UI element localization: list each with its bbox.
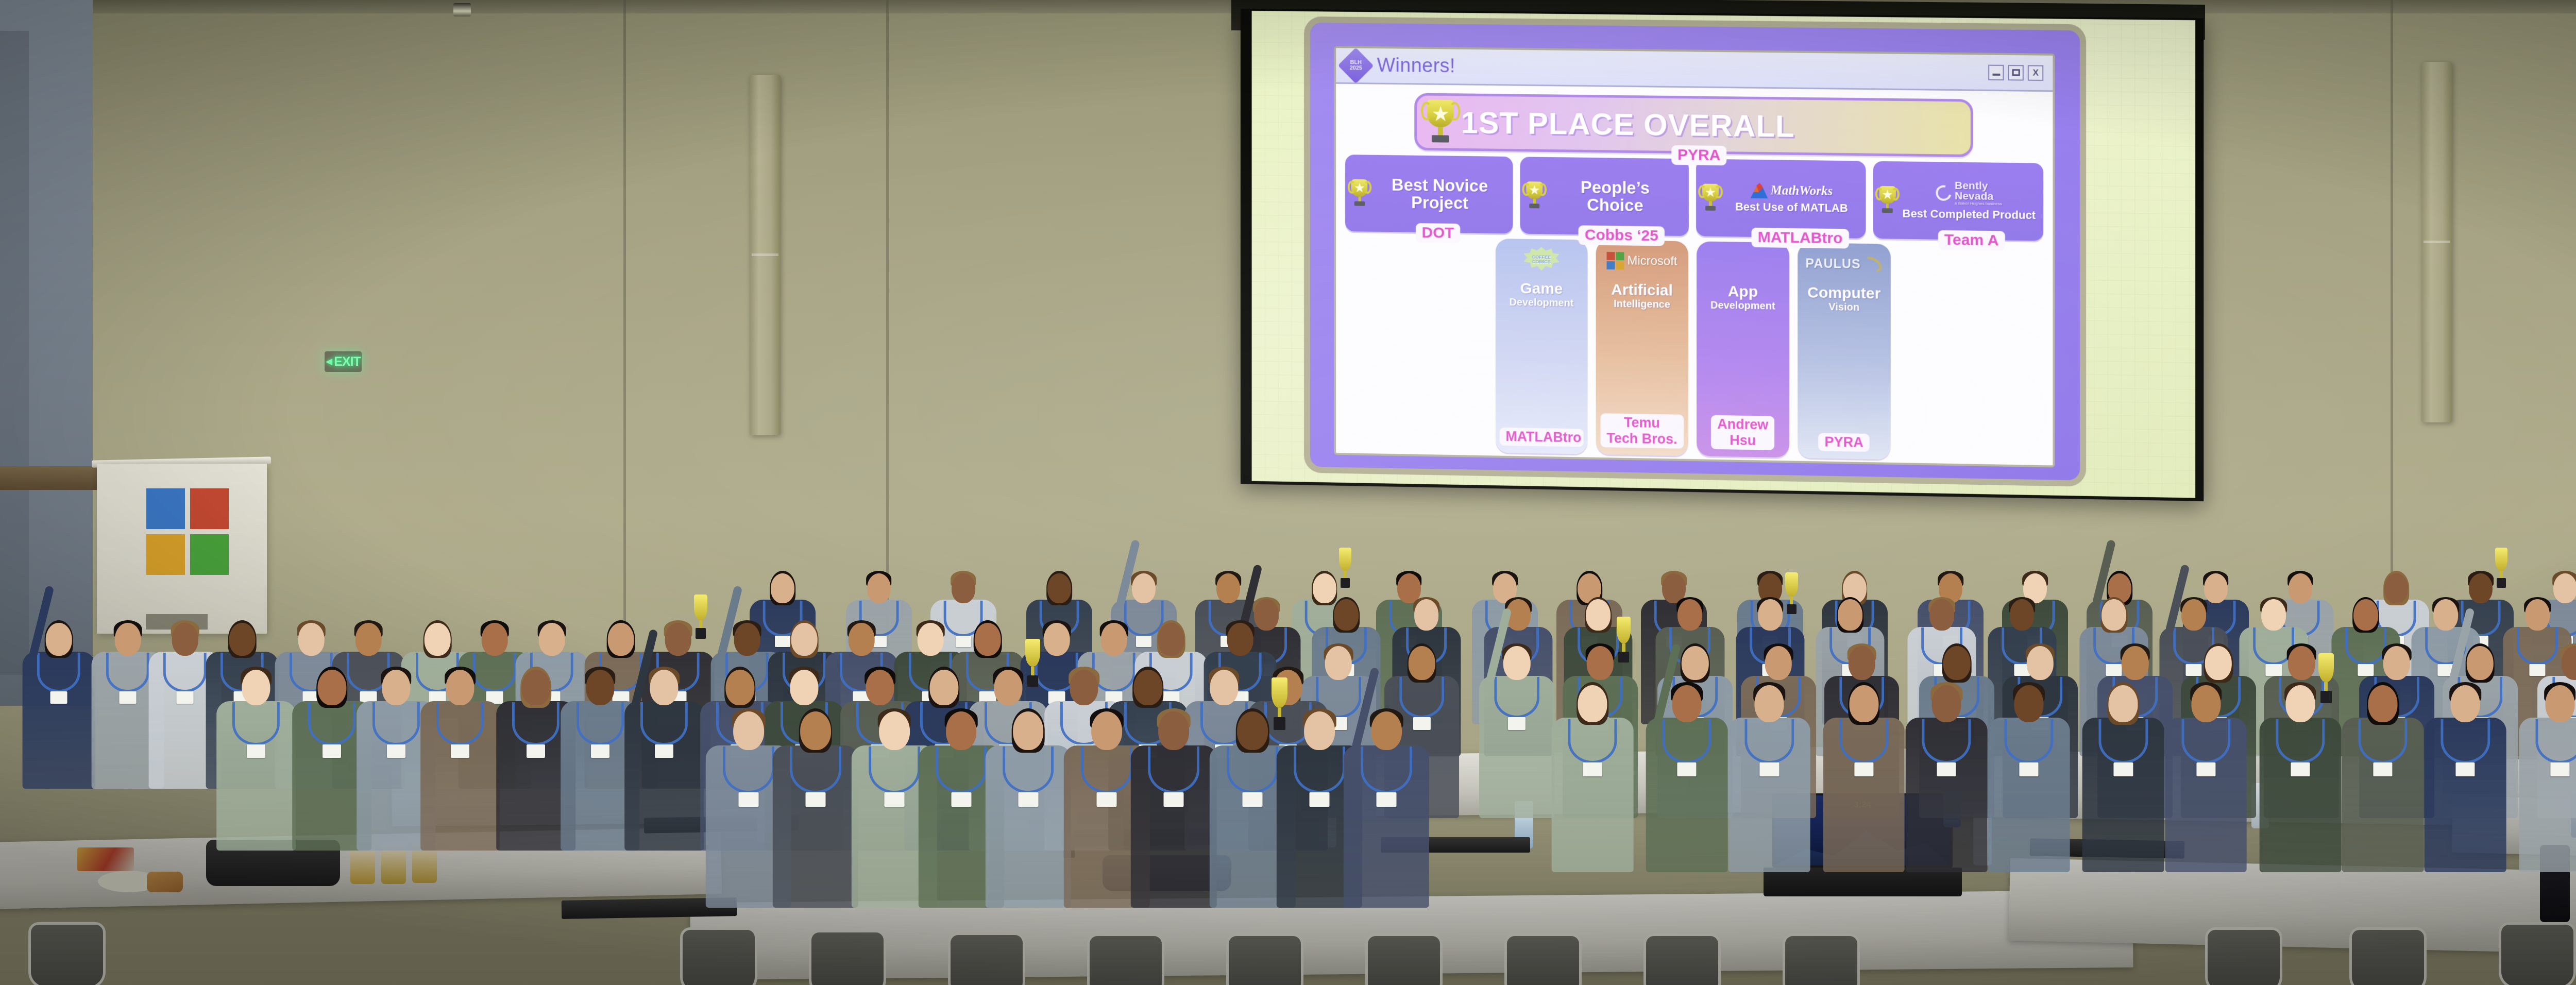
person-head — [879, 711, 910, 750]
person-head — [1101, 623, 1127, 656]
name-badge — [1583, 762, 1602, 776]
lanyard — [936, 746, 987, 793]
name-badge — [1164, 792, 1184, 807]
person-head — [2545, 685, 2574, 722]
chair[interactable] — [1087, 933, 1164, 985]
person-head — [318, 670, 346, 706]
person-head — [1237, 711, 1268, 750]
person — [1988, 680, 2070, 872]
person — [1823, 680, 1905, 872]
close-button[interactable]: X — [2028, 65, 2043, 80]
coffee-cup — [350, 845, 375, 884]
person — [985, 706, 1071, 907]
person-head — [1227, 623, 1253, 656]
lanyard — [1148, 746, 1199, 793]
name-badge — [2550, 762, 2569, 776]
lanyard — [232, 702, 280, 745]
maximize-button[interactable] — [2008, 65, 2024, 80]
name-badge — [119, 691, 136, 704]
window-title: Winners! — [1377, 55, 1455, 77]
name-badge — [2373, 762, 2392, 776]
first-place-title: 1ST PLACE OVERALL — [1461, 105, 1795, 144]
award-subtitle: Best Use of MATLAB — [1724, 200, 1859, 215]
chair[interactable] — [1504, 933, 1582, 985]
person-head — [2525, 599, 2550, 630]
name-badge — [1677, 762, 1697, 776]
lanyard — [2005, 719, 2054, 764]
wall-speaker-right — [2421, 62, 2452, 422]
lanyard — [163, 653, 207, 692]
person-head — [946, 711, 977, 750]
person-head — [790, 670, 818, 706]
category-title: Artificial — [1611, 282, 1673, 299]
person-head — [1586, 599, 1611, 630]
name-badge — [1760, 762, 1779, 776]
person-head — [1132, 573, 1156, 603]
person-head — [382, 670, 410, 706]
photo-scene: ◀ EXIT EXIT ▶ BLH 2025 — [0, 0, 2576, 985]
name-badge — [591, 744, 609, 758]
person — [420, 665, 500, 850]
lanyard — [2358, 719, 2407, 764]
award-card-best-use-of-matlab: ★ MathWorks Best Use of MATLAB MATLA — [1696, 159, 1866, 239]
microsoft-squares-icon — [1607, 252, 1624, 269]
trophy-icon: ★ — [1527, 181, 1543, 209]
person-head — [1158, 711, 1189, 750]
name-badge — [1018, 792, 1038, 807]
chair[interactable] — [680, 927, 757, 985]
person-head — [482, 623, 508, 656]
person-head — [2451, 685, 2480, 722]
person-head — [1210, 670, 1238, 706]
exit-label-left: EXIT — [334, 354, 361, 369]
chair[interactable] — [1783, 933, 1860, 985]
lanyard — [106, 653, 149, 692]
category-card-game-development: COFFEE COMICS Game Development MATLABtro — [1496, 239, 1588, 454]
chair[interactable] — [1365, 933, 1443, 985]
person-head — [734, 623, 760, 656]
category-winner-tag: Andrew Hsu — [1711, 415, 1774, 450]
person-head — [1408, 646, 1435, 680]
pastry — [147, 872, 183, 892]
person-head — [115, 623, 141, 656]
coffee-comics-logo-icon: COFFEE COMICS — [1523, 245, 1560, 275]
person-head — [665, 623, 691, 656]
person — [1906, 680, 1988, 872]
category-card-artificial-intelligence: Microsoft Artificial Intelligence Temu T… — [1596, 240, 1688, 456]
award-winner-tag: Cobbs ‘25 — [1579, 225, 1665, 246]
name-badge — [655, 744, 673, 758]
lanyard — [1294, 746, 1345, 793]
name-badge — [884, 792, 904, 807]
name-badge — [2114, 762, 2133, 776]
first-place-winner-tag: PYRA — [1671, 145, 1726, 166]
lanyard — [1003, 746, 1054, 793]
person — [2519, 680, 2576, 872]
lanyard — [2276, 719, 2325, 764]
lanyard — [869, 746, 920, 793]
snack-bag — [77, 847, 134, 871]
person — [2425, 680, 2506, 872]
award-title-line1: Best Novice — [1373, 176, 1507, 195]
award-card-best-novice-project: ★ Best Novice Project DOT — [1345, 155, 1513, 234]
person-head — [2368, 685, 2398, 722]
window-controls: X — [1988, 64, 2045, 80]
name-badge — [1097, 792, 1117, 807]
wall-seam — [623, 0, 626, 649]
category-winner-line2: Hsu — [1730, 432, 1756, 448]
person-head — [298, 623, 325, 656]
person-head — [2109, 685, 2138, 722]
person-head — [771, 573, 794, 603]
lanyard — [790, 746, 841, 793]
person-head — [2010, 599, 2035, 630]
chair[interactable] — [28, 922, 106, 985]
name-badge — [1508, 717, 1526, 730]
person-head — [1334, 599, 1359, 630]
person-head — [539, 623, 565, 656]
person-head — [2353, 599, 2378, 630]
trophy-held — [1785, 572, 1798, 614]
lanyard — [1227, 746, 1278, 793]
person-head — [1134, 670, 1162, 706]
name-badge — [1376, 792, 1396, 807]
name-badge — [247, 744, 265, 758]
lanyard — [436, 702, 484, 745]
category-subtitle: Intelligence — [1614, 299, 1670, 311]
slide-content: ★ 1ST PLACE OVERALL PYRA ★ — [1336, 84, 2053, 466]
person-head — [1503, 646, 1530, 680]
award-winner-tag: Team A — [1938, 230, 2005, 250]
exit-arrow-left-icon: ◀ — [326, 356, 332, 367]
person-head — [975, 623, 1001, 656]
chair[interactable] — [2205, 927, 2282, 985]
person — [2165, 680, 2247, 872]
lanyard — [1568, 719, 1617, 764]
first-place-banner-wrap: ★ 1ST PLACE OVERALL PYRA — [1345, 92, 2043, 158]
lanyard — [1745, 719, 1794, 764]
exit-sign-left: ◀ EXIT — [325, 351, 362, 372]
person-head — [242, 670, 270, 706]
person — [2082, 680, 2164, 872]
name-badge — [1243, 792, 1263, 807]
trophy-icon: ★ — [1702, 184, 1719, 212]
person-head — [650, 670, 678, 706]
person-head — [733, 711, 764, 750]
microsoft-logo-icon: Microsoft — [1607, 246, 1677, 276]
person-head — [2014, 685, 2044, 722]
person-head — [355, 623, 382, 656]
person — [624, 665, 704, 850]
person-head — [1013, 711, 1044, 750]
category-card-computer-vision: PAULUS Computer Vision PYRA — [1798, 243, 1891, 460]
category-title: App — [1728, 284, 1758, 300]
person — [23, 618, 95, 788]
mathworks-mark-icon — [1750, 183, 1768, 198]
person-head — [172, 623, 198, 656]
coffee-comics-line2: COMICS — [1532, 259, 1551, 264]
award-card-best-completed-product: ★ Bently Nevada a Baker Hughes business — [1873, 161, 2043, 241]
microsoft-banner — [97, 464, 267, 634]
chair[interactable] — [1643, 933, 1721, 985]
category-winner-line1: Temu — [1624, 415, 1660, 431]
person-head — [1765, 646, 1792, 680]
person-head — [1672, 685, 1702, 722]
person-head — [994, 670, 1022, 706]
lanyard — [308, 702, 355, 745]
person-head — [1929, 599, 1954, 630]
person-head — [1755, 685, 1784, 722]
name-badge — [387, 744, 405, 758]
award-title-line2: Project — [1373, 193, 1507, 213]
person — [1552, 680, 1634, 872]
award-winner-tag: MATLABtro — [1752, 228, 1849, 249]
person-head — [726, 670, 754, 706]
trophy-held — [2495, 548, 2507, 588]
lanyard — [2441, 719, 2490, 764]
bently-swirl-icon — [1933, 182, 1954, 203]
name-badge — [451, 744, 469, 758]
person — [1728, 680, 1810, 872]
person-head — [46, 623, 72, 656]
lanyard — [2181, 719, 2230, 764]
name-badge — [527, 744, 545, 758]
award-card-peoples-choice: ★ People’s Choice Cobbs ‘25 — [1520, 157, 1689, 236]
paulus-swoosh-icon — [1860, 253, 1885, 275]
lanyard — [1361, 746, 1412, 793]
person — [773, 706, 858, 907]
slide-window: BLH 2025 Winners! X — [1334, 46, 2055, 467]
award-title-line1: People’s — [1548, 178, 1683, 197]
person-head — [2122, 646, 2148, 680]
chair[interactable] — [948, 932, 1025, 985]
category-subtitle: Vision — [1828, 302, 1859, 313]
lanyard — [723, 746, 774, 793]
trophy-icon: ★ — [1879, 186, 1895, 214]
award-title-line2: Choice — [1548, 196, 1683, 215]
category-winner-tag: MATLABtro — [1500, 428, 1584, 447]
trophy-held — [2318, 653, 2334, 703]
category-card-app-development: App Development Andrew Hsu — [1697, 242, 1789, 458]
person-head — [791, 623, 818, 656]
person — [216, 665, 296, 850]
ceiling-light — [453, 3, 471, 16]
category-winner-line1: Andrew — [1717, 416, 1768, 433]
lanyard — [1663, 719, 1711, 764]
award-subtitle: Best Completed Product — [1901, 207, 2037, 223]
chair[interactable] — [2499, 922, 2576, 985]
person-head — [1070, 670, 1098, 706]
lanyard — [37, 653, 80, 692]
person-head — [1758, 599, 1783, 630]
person-head — [2181, 599, 2206, 630]
mathworks-wordmark: MathWorks — [1771, 183, 1833, 199]
chair[interactable] — [1226, 933, 1303, 985]
projector-screen-surface: BLH 2025 Winners! X — [1252, 11, 2195, 498]
person-head — [608, 623, 634, 656]
name-badge — [738, 792, 758, 807]
category-title: Game — [1520, 281, 1563, 297]
person-head — [1047, 573, 1071, 603]
name-badge — [805, 792, 825, 807]
person-head — [2191, 685, 2221, 722]
person-head — [1677, 599, 1702, 630]
lanyard — [1494, 677, 1539, 718]
wall-seam — [2391, 0, 2393, 608]
person-head — [586, 670, 614, 706]
person-head — [522, 670, 550, 706]
person-head — [1158, 623, 1184, 656]
category-subtitle: Development — [1510, 297, 1574, 309]
wall-trim — [0, 466, 103, 490]
lanyard — [640, 702, 688, 745]
category-winner-line2: Tech Bros. — [1607, 430, 1677, 447]
trophy-held — [1339, 548, 1351, 588]
lanyard — [1839, 719, 1888, 764]
projector-screen-frame: BLH 2025 Winners! X — [1241, 9, 2204, 501]
name-badge — [1937, 762, 1956, 776]
person — [1344, 706, 1429, 907]
person-head — [1092, 711, 1123, 750]
name-badge — [176, 691, 193, 704]
name-badge — [1310, 792, 1330, 807]
lanyard — [1081, 746, 1133, 793]
lanyard — [372, 702, 420, 745]
person-head — [1931, 685, 1961, 722]
chair[interactable] — [809, 930, 886, 985]
person-head — [1848, 646, 1875, 680]
name-badge — [50, 691, 67, 704]
trophy-icon: ★ — [1427, 100, 1453, 144]
person — [2259, 680, 2341, 872]
person-head — [1578, 685, 1607, 722]
person-head — [1587, 646, 1614, 680]
paulus-logo-icon: PAULUS — [1806, 249, 1883, 279]
person-head — [918, 623, 944, 656]
category-title: Computer — [1807, 285, 1880, 302]
microsoft-wordmark: Microsoft — [1627, 254, 1677, 269]
category-winner-tag: PYRA — [1819, 433, 1870, 452]
blh-logo-line2: 2025 — [1350, 65, 1362, 71]
name-badge — [323, 744, 341, 758]
bently-tagline: a Baker Hughes business — [1955, 201, 2002, 206]
category-row: COFFEE COMICS Game Development MATLABtro — [1345, 236, 2043, 462]
person-head — [2383, 646, 2410, 680]
person — [1131, 706, 1216, 907]
lanyard — [577, 702, 624, 745]
award-row: ★ Best Novice Project DOT ★ — [1345, 155, 2043, 241]
person-head — [2433, 599, 2458, 630]
person-head — [930, 670, 958, 706]
trophy-held — [1617, 617, 1631, 663]
person — [2342, 680, 2424, 872]
person-head — [2205, 646, 2232, 680]
person-head — [2285, 685, 2315, 722]
lanyard — [2099, 719, 2148, 764]
wall-speaker-left — [750, 75, 781, 435]
person-head — [1849, 685, 1878, 722]
award-winner-tag: DOT — [1416, 223, 1460, 244]
person-head — [2466, 646, 2493, 680]
trophy-icon: ★ — [1351, 179, 1368, 207]
lanyard — [1922, 719, 1971, 764]
trophy-held — [694, 595, 707, 639]
person-head — [1325, 646, 1352, 680]
name-badge — [1854, 762, 1873, 776]
name-badge — [2456, 762, 2475, 776]
person-head — [2102, 599, 2126, 630]
person-head — [1414, 599, 1439, 630]
person-head — [229, 623, 256, 656]
chair[interactable] — [2349, 927, 2427, 985]
blh-logo-icon: BLH 2025 — [1338, 47, 1374, 83]
person-head — [849, 623, 875, 656]
wall-panel-left-inner — [0, 31, 29, 675]
name-badge — [2196, 762, 2215, 776]
person-head — [2261, 599, 2286, 630]
slide-frame: BLH 2025 Winners! X — [1304, 16, 2087, 487]
minimize-button[interactable] — [1988, 64, 2004, 80]
person — [1479, 641, 1554, 818]
person-head — [1838, 599, 1862, 630]
paulus-wordmark: PAULUS — [1806, 256, 1861, 272]
name-badge — [951, 792, 971, 807]
category-subtitle: Development — [1710, 300, 1775, 312]
lanyard — [512, 702, 560, 745]
wall-seam — [886, 0, 889, 649]
person-head — [2288, 646, 2315, 680]
mathworks-logo-icon: MathWorks — [1724, 182, 1859, 199]
person-head — [446, 670, 474, 706]
bently-nevada-logo-icon: Bently Nevada a Baker Hughes business — [1901, 180, 2037, 207]
name-badge — [2020, 762, 2039, 776]
person-head — [2026, 646, 2053, 680]
person-head — [1371, 711, 1402, 750]
person-head — [800, 711, 831, 750]
person-head — [1304, 711, 1335, 750]
person-head — [1682, 646, 1708, 680]
person-head — [425, 623, 451, 656]
person-head — [866, 670, 894, 706]
person-head — [1943, 646, 1970, 680]
person-head — [1044, 623, 1070, 656]
person-head — [952, 573, 975, 603]
person — [1646, 680, 1728, 872]
trophy-held — [1025, 639, 1040, 687]
microsoft-logo-icon — [146, 488, 229, 575]
category-winner-tag: Temu Tech Bros. — [1601, 413, 1684, 449]
name-badge — [2291, 762, 2310, 776]
person-head — [867, 573, 891, 603]
